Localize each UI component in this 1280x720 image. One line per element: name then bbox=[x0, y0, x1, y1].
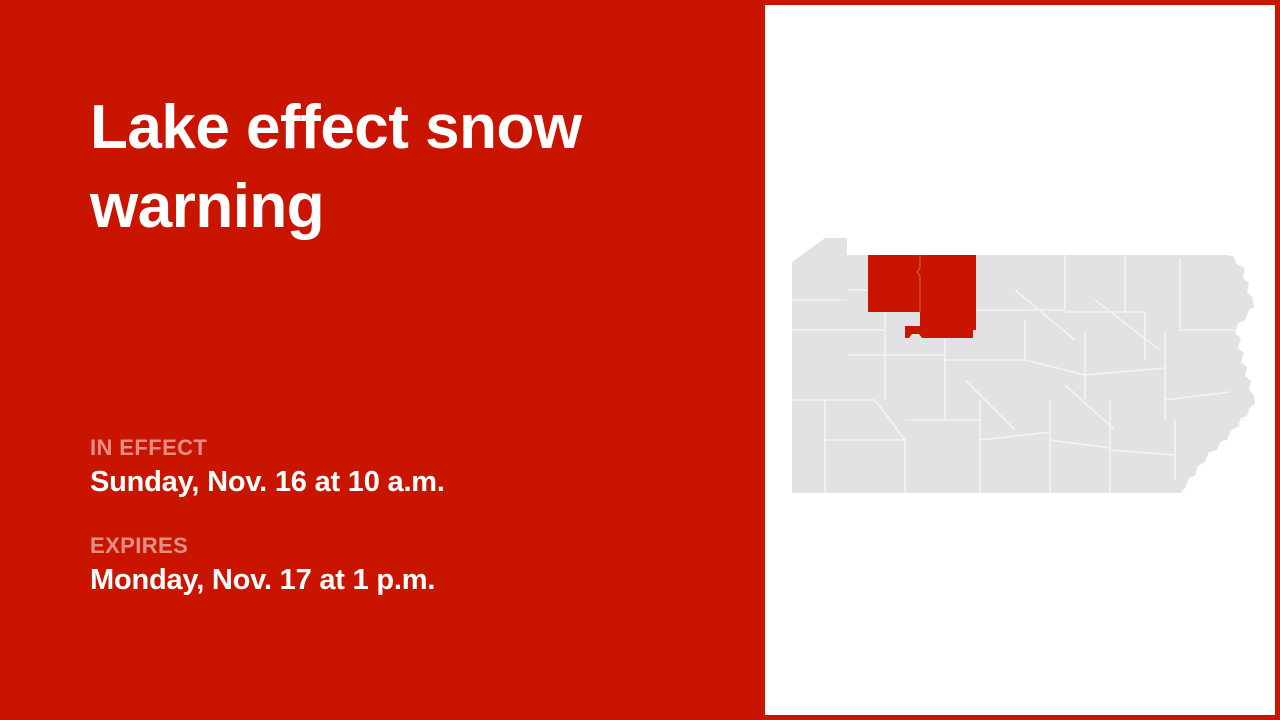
alert-title: Lake effect snow warning bbox=[90, 88, 710, 247]
expires-label: EXPIRES bbox=[90, 535, 730, 557]
alert-panel: Lake effect snow warning IN EFFECT Sunda… bbox=[0, 0, 765, 720]
pennsylvania-state-shape bbox=[792, 238, 1255, 493]
weather-alert-graphic: Lake effect snow warning IN EFFECT Sunda… bbox=[0, 0, 1280, 720]
in-effect-value: Sunday, Nov. 16 at 10 a.m. bbox=[90, 467, 730, 497]
in-effect-label: IN EFFECT bbox=[90, 437, 730, 459]
alert-timing-block: IN EFFECT Sunday, Nov. 16 at 10 a.m. EXP… bbox=[90, 437, 730, 596]
expires-group: EXPIRES Monday, Nov. 17 at 1 p.m. bbox=[90, 535, 730, 595]
map-panel bbox=[765, 0, 1280, 720]
map-base-layer bbox=[792, 238, 1255, 493]
expires-value: Monday, Nov. 17 at 1 p.m. bbox=[90, 565, 730, 595]
highlight-warren-mckean bbox=[868, 255, 976, 312]
in-effect-group: IN EFFECT Sunday, Nov. 16 at 10 a.m. bbox=[90, 437, 730, 497]
pennsylvania-county-map bbox=[765, 0, 1280, 720]
